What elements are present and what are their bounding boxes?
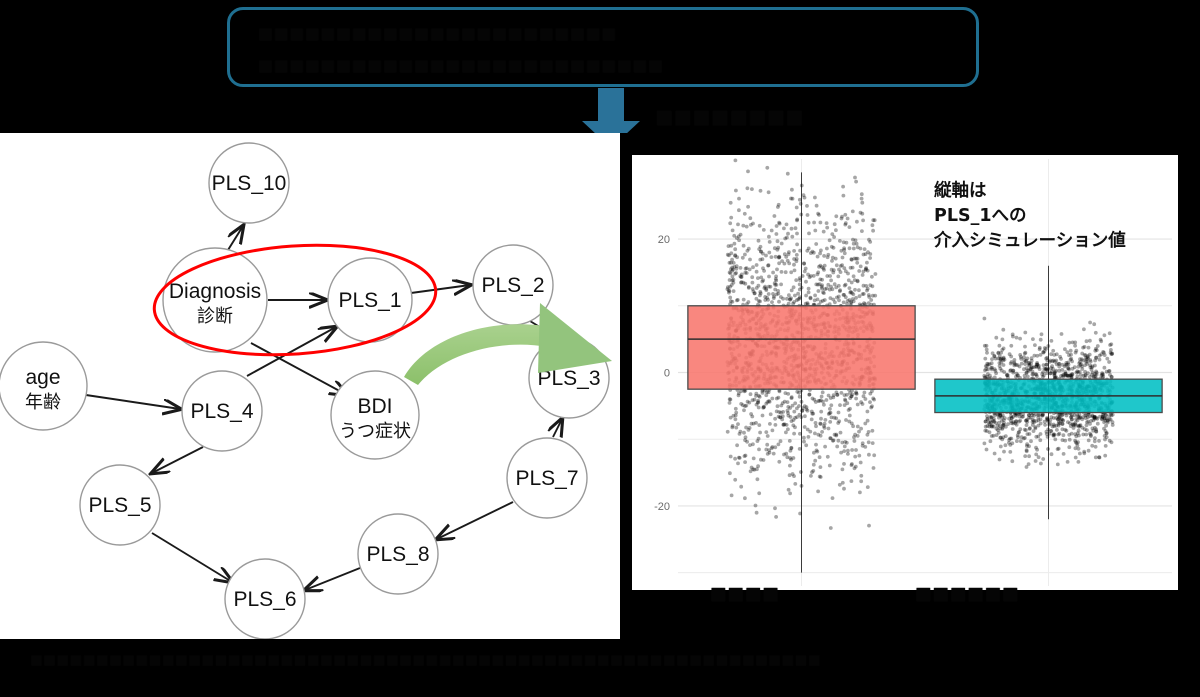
dag-node-label: PLS_2	[481, 274, 544, 297]
y-tick-label: -20	[654, 501, 670, 513]
dag-node-pls_10: PLS_10	[209, 143, 289, 223]
dag-node-label: Diagnosis	[169, 280, 261, 303]
node-layer: PLS_10Diagnosis診断PLS_1PLS_2PLS_3age年齢PLS…	[0, 143, 609, 639]
edge-pls5-pls6	[152, 533, 232, 582]
y-tick-label: 20	[658, 234, 670, 246]
dag-node-label: PLS_10	[212, 172, 287, 195]
edge-pls7-pls8	[437, 502, 513, 539]
dag-node-sublabel: 診断	[197, 306, 233, 327]
edge-pls7-pls3	[553, 419, 562, 437]
dag-node-label: PLS_1	[338, 289, 401, 312]
dag-node-label: PLS_8	[366, 543, 429, 566]
dag-node-label: PLS_6	[233, 588, 296, 611]
x-axis-label-0: ■■■■	[710, 578, 780, 610]
edge-age-pls4	[86, 395, 180, 409]
title-text: ■■■■■■■■■■■■■■■■■■■■■■■ ■■■■■■■■■■■■■■■■…	[230, 10, 976, 90]
bottom-caption-text: ■■■■■■■■■■■■■■■■■■■■■■■■■■■■■■■■■■■■■■■■…	[30, 648, 1170, 674]
dag-node-label: PLS_5	[88, 494, 151, 517]
edge-pls4-pls5	[152, 447, 203, 473]
dag-node-label: PLS_7	[515, 467, 578, 490]
bottom-caption: ■■■■■■■■■■■■■■■■■■■■■■■■■■■■■■■■■■■■■■■■…	[30, 648, 1170, 690]
dag-node-pls_7: PLS_7	[507, 438, 587, 518]
chart-plot-area: 200-20 縦軸は PLS_1への 介入シミュレーション値	[632, 155, 1178, 590]
x-axis-labels: ■■■■ ■■■■■■	[620, 578, 1190, 624]
edge-pls8-pls6	[305, 568, 360, 590]
slide-canvas: ■■■■■■■■■■■■■■■■■■■■■■■ ■■■■■■■■■■■■■■■■…	[0, 0, 1200, 697]
dag-node-sublabel: うつ症状	[339, 421, 411, 442]
dag-node-pls_5: PLS_5	[80, 465, 160, 545]
dag-node-age: age年齢	[0, 342, 87, 430]
box-0	[688, 306, 915, 389]
y-tick-label: 0	[664, 368, 670, 380]
dag-node-label: age	[25, 366, 60, 389]
dag-node-pls_8: PLS_8	[358, 514, 438, 594]
dag-node-label: PLS_4	[190, 400, 253, 423]
dag-node-sublabel: 年齢	[25, 392, 61, 413]
dag-node-bdi: BDIうつ症状	[331, 371, 419, 459]
edge-diagnosis-pls10	[228, 226, 243, 250]
dag-node-label: BDI	[357, 395, 392, 418]
x-axis-label-1: ■■■■■■	[915, 578, 1019, 610]
edge-pls1-pls2	[411, 285, 470, 293]
title-banner: ■■■■■■■■■■■■■■■■■■■■■■■ ■■■■■■■■■■■■■■■■…	[227, 7, 979, 87]
dag-node-pls_4: PLS_4	[182, 371, 262, 451]
dag-graph: PLS_10Diagnosis診断PLS_1PLS_2PLS_3age年齢PLS…	[0, 133, 620, 639]
dag-diagram-panel: PLS_10Diagnosis診断PLS_1PLS_2PLS_3age年齢PLS…	[0, 133, 620, 639]
chart-note: 縦軸は PLS_1への 介入シミュレーション値	[934, 179, 1184, 254]
dag-node-pls_6: PLS_6	[225, 559, 305, 639]
boxplot-panel: 200-20 縦軸は PLS_1への 介入シミュレーション値	[620, 133, 1190, 639]
